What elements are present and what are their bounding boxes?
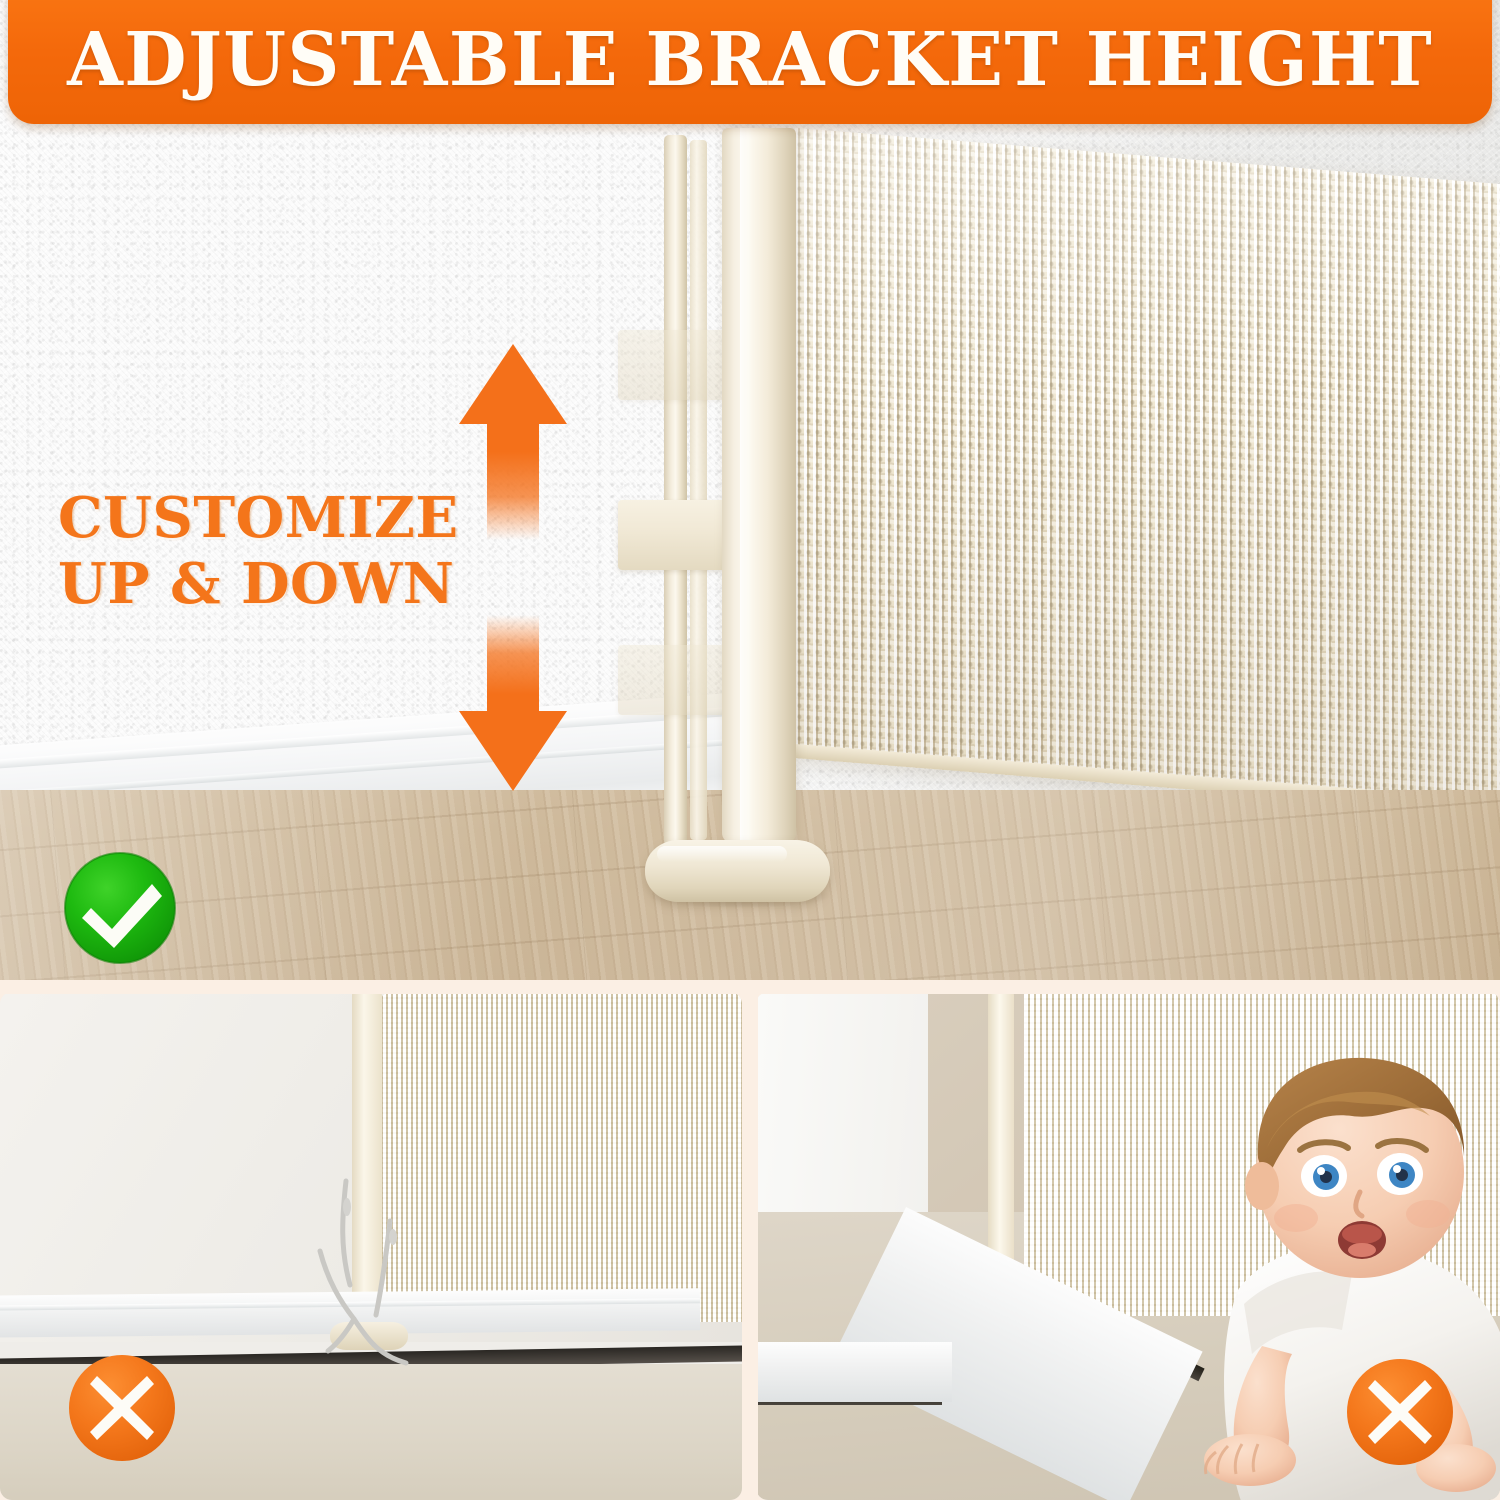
customize-callout-text: CUSTOMIZE UP & DOWN [58,486,478,617]
x-badge-left [64,1350,180,1466]
x-badge-right [1342,1354,1458,1470]
wall-paint-crack-icon [250,1177,470,1377]
bottom-left-panel [0,992,742,1500]
header-banner: ADJUSTABLE BRACKET HEIGHT [8,0,1492,124]
base-plate-highlight [657,846,787,862]
page-title: ADJUSTABLE BRACKET HEIGHT [67,23,1433,97]
check-badge [60,848,180,968]
main-product-panel: CUSTOMIZE UP & DOWN [0,0,1500,982]
bracket-position-middle [618,500,726,570]
panel-gutter-vertical [742,988,758,1500]
bracket-face [618,330,726,400]
gate-vertical-post [722,128,796,843]
gate-mesh-panel [795,128,1500,818]
infographic-canvas: CUSTOMIZE UP & DOWN [0,0,1500,1500]
post-highlight [740,128,752,843]
bracket-position-bottom [618,645,726,715]
adjustable-inner-rail-b [690,140,707,840]
bracket-position-top [618,330,726,400]
bottom-right-panel [756,992,1500,1500]
bracket-face [618,500,726,570]
adjustable-inner-rail [664,135,687,845]
post-base-plate [645,840,830,902]
bracket-face [618,645,726,715]
gate-panel-shading [795,128,1500,818]
right-panel-baseboard-left [756,1342,952,1402]
down-arrow-icon [455,615,571,795]
